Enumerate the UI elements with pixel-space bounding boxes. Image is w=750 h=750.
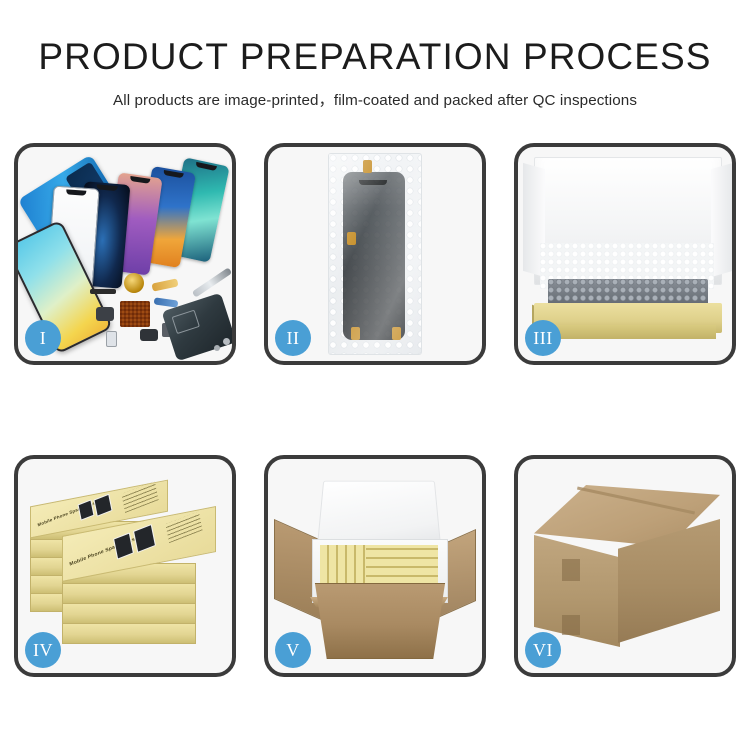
flex-cable-blue-icon	[154, 297, 179, 307]
box-spec-lines	[165, 511, 202, 543]
notch	[195, 162, 217, 171]
step-badge-1: I	[25, 320, 61, 356]
box-window	[113, 532, 134, 559]
step-panel-5: V	[264, 455, 486, 677]
spare-parts-group	[90, 271, 232, 355]
camera-module-icon	[96, 307, 114, 321]
box-window	[78, 499, 95, 520]
notch	[66, 189, 87, 195]
flex-tab-icon	[392, 327, 401, 340]
step-panel-1: I	[14, 143, 236, 365]
step-panel-2: II	[264, 143, 486, 365]
step-panel-4: Mobile Phone Spare Parts Mobile Phone Sp…	[14, 455, 236, 677]
box-window	[133, 524, 156, 553]
step-badge-4: IV	[25, 632, 61, 668]
flex-cable-gold-icon	[151, 278, 178, 291]
page-title: PRODUCT PREPARATION PROCESS	[0, 38, 750, 77]
step-badge-3: III	[525, 320, 561, 356]
step-badge-2: II	[275, 320, 311, 356]
screw-icon	[223, 338, 230, 345]
flex-tab-icon	[351, 327, 360, 340]
bubble-wrap-bag	[328, 153, 422, 355]
notch	[163, 170, 184, 178]
notch	[96, 184, 118, 191]
carton-tape-mark	[562, 615, 580, 635]
notch	[130, 176, 151, 184]
flex-tab-icon	[347, 232, 356, 245]
header: PRODUCT PREPARATION PROCESS All products…	[0, 38, 750, 110]
product-preparation-infographic: PRODUCT PREPARATION PROCESS All products…	[0, 0, 750, 750]
box-spec-lines	[121, 481, 158, 513]
page-subtitle: All products are image-printed，film-coat…	[0, 88, 750, 110]
process-steps-grid: I II	[14, 143, 736, 677]
button-part-icon	[106, 331, 117, 347]
flex-tab-icon	[363, 160, 372, 173]
step-badge-5: V	[275, 632, 311, 668]
yellow-box-front	[540, 325, 716, 339]
stacked-box	[62, 583, 196, 604]
step-badge-6: VI	[525, 632, 561, 668]
stacked-box	[62, 603, 196, 624]
wrapped-phone-screen	[343, 172, 405, 340]
step-panel-3: III	[514, 143, 736, 365]
step-panel-6: VI	[514, 455, 736, 677]
carton-tape-mark	[562, 559, 580, 581]
screw-icon	[214, 345, 220, 351]
copper-grid-part-icon	[120, 301, 150, 327]
screwdriver-icon	[192, 267, 232, 297]
bar-part-icon	[90, 289, 116, 294]
box-window	[93, 494, 112, 517]
carton-body	[306, 583, 454, 659]
coil-part-icon	[124, 273, 144, 293]
stacked-box	[62, 623, 196, 644]
speaker-part-icon	[140, 329, 158, 341]
